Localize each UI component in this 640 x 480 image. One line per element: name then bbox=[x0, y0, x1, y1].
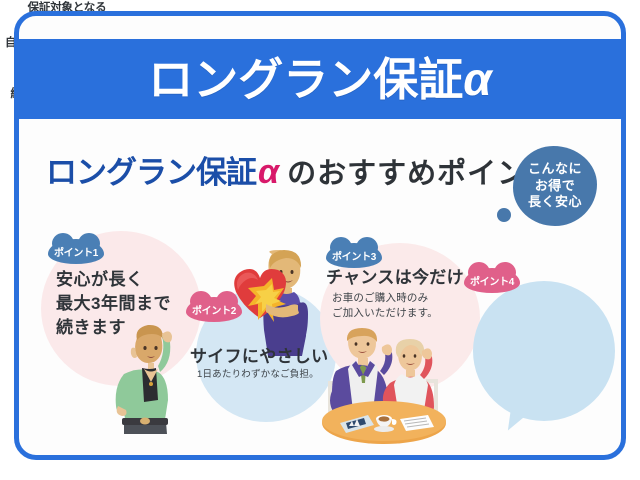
point-3-subtext-line-2: ご加入いただけます。 bbox=[332, 306, 438, 321]
point-4-blob bbox=[473, 281, 615, 421]
point-3-subtext: お車のご購入時のみ ご加入いただけます。 bbox=[332, 291, 438, 321]
warranty-poster: ロングラン保証α ロングラン保証αのおすすめポイント こんなに お得で 長く安心… bbox=[0, 0, 640, 480]
subtitle: ロングラン保証αのおすすめポイント bbox=[46, 155, 557, 189]
point-2-subtext: 1日あたりわずかなご負担。 bbox=[197, 368, 319, 382]
top-bubble-line-2: お得で bbox=[535, 179, 576, 194]
point-3-subtext-line-1: お車のご購入時のみ bbox=[332, 291, 438, 306]
point-3-badge: ポイント3 bbox=[326, 243, 382, 268]
top-speech-bubble: こんなに お得で 長く安心 bbox=[513, 146, 597, 226]
speech-bubble-tail-dot bbox=[497, 208, 511, 222]
woman-holding-heart-illustration bbox=[228, 248, 320, 358]
point-3-heading: チャンスは今だけ bbox=[326, 266, 464, 290]
point-2-heading: サイフにやさしい bbox=[190, 345, 328, 369]
point-2-badge: ポイント2 bbox=[186, 297, 242, 322]
subtitle-alpha: α bbox=[256, 153, 281, 191]
point-1-heading: 安心が長く 最大3年間まで 続きます bbox=[56, 268, 171, 340]
point-1-heading-line-2: 最大3年間まで bbox=[56, 292, 171, 316]
page-title: ロングラン保証α bbox=[148, 56, 492, 102]
two-people-at-table-illustration bbox=[318, 327, 450, 445]
point-1-badge: ポイント1 bbox=[48, 239, 104, 264]
top-bubble-line-3: 長く安心 bbox=[528, 195, 582, 210]
header-band: ロングラン保証α bbox=[19, 39, 621, 119]
point-4-badge: ポイント4 bbox=[464, 268, 520, 293]
point-1-heading-line-3: 続きます bbox=[56, 316, 171, 340]
point-1-heading-line-1: 安心が長く bbox=[56, 268, 171, 292]
top-bubble-line-1: こんなに bbox=[528, 162, 582, 177]
header-title-alpha: α bbox=[463, 53, 492, 105]
subtitle-brand: ロングラン保証 bbox=[46, 155, 256, 190]
header-title-text: ロングラン保証 bbox=[148, 54, 463, 105]
